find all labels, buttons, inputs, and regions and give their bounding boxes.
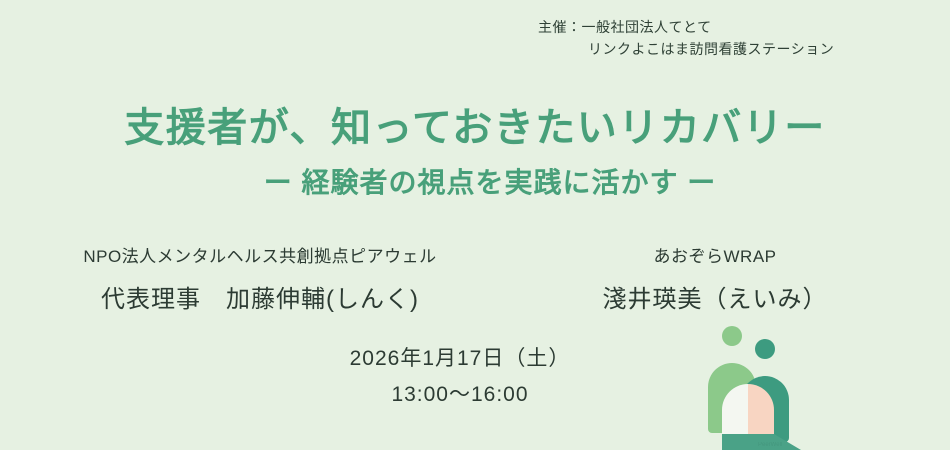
page-subtitle: ー 経験者の視点を実践に活かす ー (0, 166, 950, 200)
flyer-canvas: 主催：一般社団法人てとて リンクよこはま訪問看護ステーション 支援者が、知ってお… (0, 0, 950, 450)
organization-logo: PeerWell (700, 322, 850, 450)
organizer-block: 主催：一般社団法人てとて リンクよこはま訪問看護ステーション (538, 16, 834, 60)
speaker-name: 淺井瑛美（えいみ） (520, 283, 910, 317)
speaker-list: NPO法人メンタルヘルス共創拠点ピアウェル 代表理事 加藤伸輔(しんく) あおぞ… (0, 245, 950, 317)
organizer-line-2: リンクよこはま訪問看護ステーション (538, 38, 834, 60)
speaker-organization: NPO法人メンタルヘルス共創拠点ピアウェル (0, 245, 520, 269)
speaker-organization: あおぞらWRAP (520, 245, 910, 269)
page-title: 支援者が、知っておきたいリカバリー (0, 104, 950, 152)
speaker-entry: あおぞらWRAP 淺井瑛美（えいみ） (520, 245, 910, 317)
speaker-entry: NPO法人メンタルヘルス共創拠点ピアウェル 代表理事 加藤伸輔(しんく) (0, 245, 520, 317)
logo-watermark: PeerWell (758, 442, 782, 448)
organizer-line-1: 主催：一般社団法人てとて (538, 16, 834, 38)
peer-well-logo-icon: PeerWell (700, 322, 850, 450)
speaker-name: 代表理事 加藤伸輔(しんく) (0, 283, 520, 317)
